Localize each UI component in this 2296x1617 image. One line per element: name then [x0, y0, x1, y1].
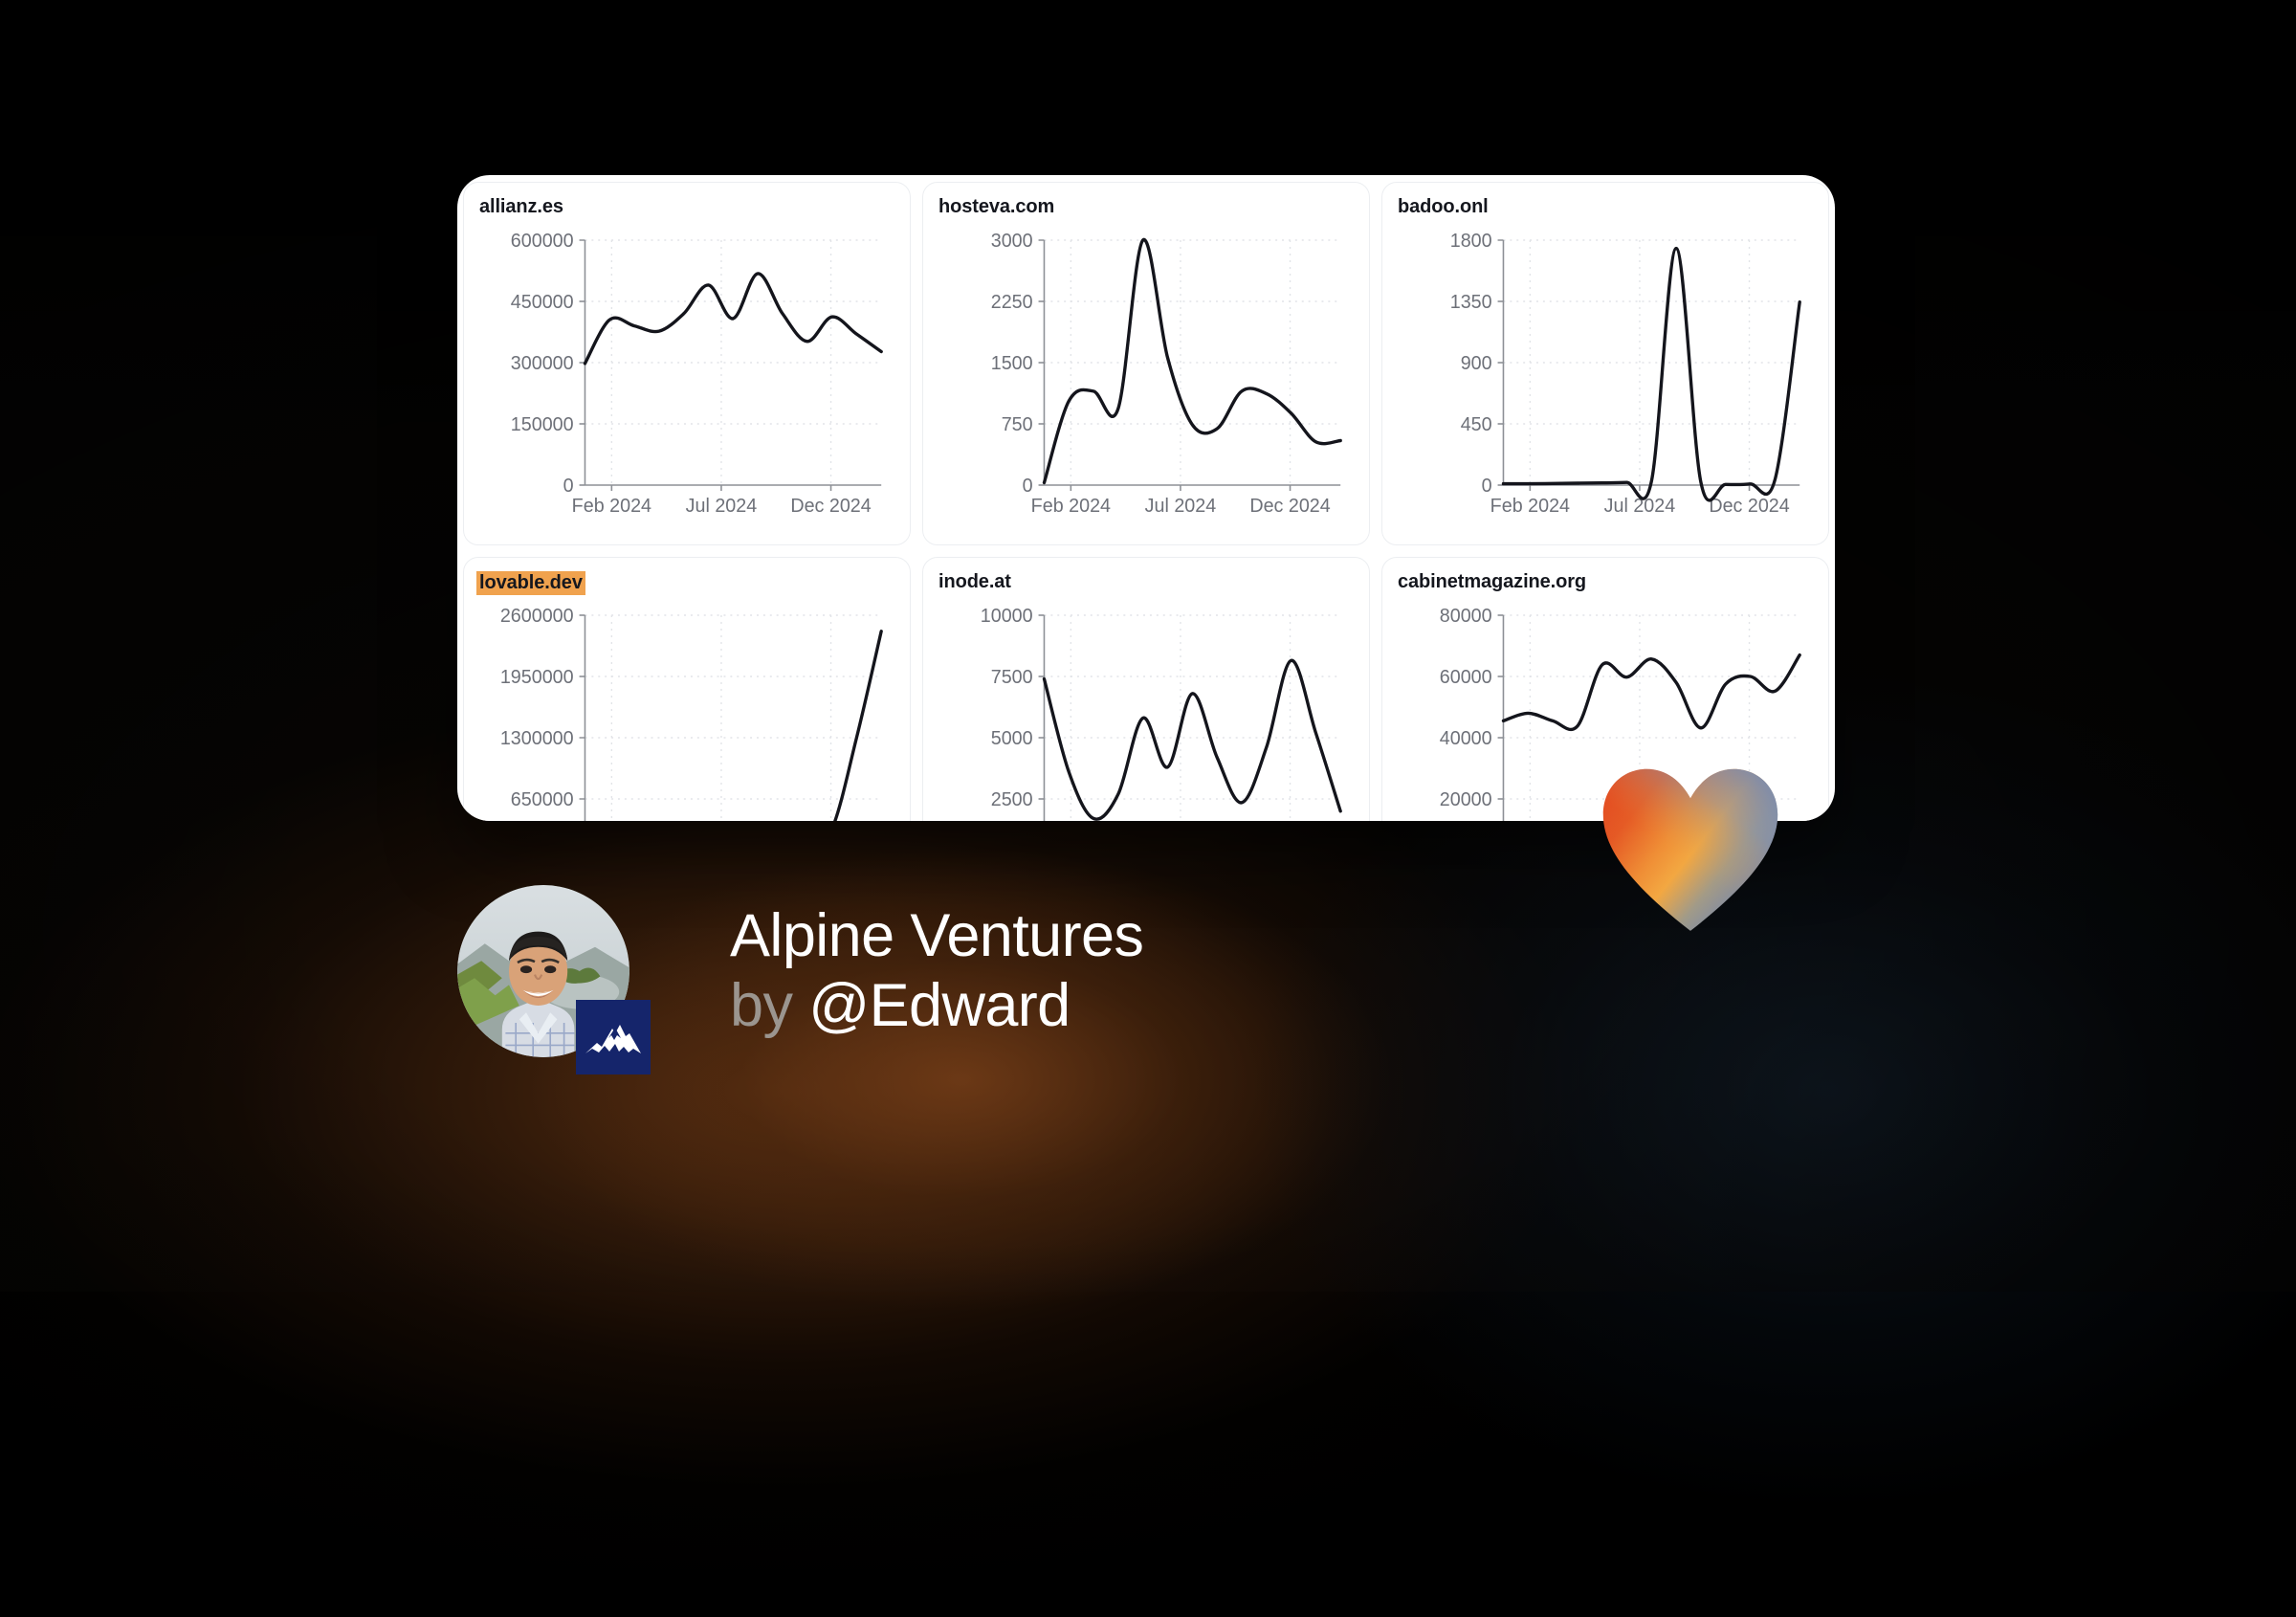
y-tick-label: 450000: [511, 292, 574, 313]
y-tick-label: 10000: [981, 606, 1033, 627]
chart-plot: 0750150022503000Feb 2024Jul 2024Dec 2024: [938, 233, 1354, 529]
chart-plot: 045090013501800Feb 2024Jul 2024Dec 2024: [1398, 233, 1813, 529]
brand-text-block: Alpine Ventures by @Edward: [730, 901, 1143, 1041]
x-tick-label: Feb 2024: [1490, 496, 1570, 517]
chart-title: inode.at: [938, 571, 1011, 593]
avatar-wrapper: [457, 885, 629, 1057]
chart-series-line: [1044, 239, 1340, 482]
y-tick-label: 0: [1023, 476, 1033, 497]
chart-title: badoo.onl: [1398, 196, 1489, 218]
y-tick-label: 7500: [991, 667, 1033, 688]
chart-card[interactable]: hosteva.com0750150022503000Feb 2024Jul 2…: [922, 182, 1370, 545]
y-tick-label: 1500: [991, 353, 1033, 374]
y-tick-label: 450: [1461, 414, 1492, 435]
x-tick-label: Jul 2024: [1604, 496, 1676, 517]
y-tick-label: 0: [1482, 476, 1492, 497]
chart-card[interactable]: allianz.es0150000300000450000600000Feb 2…: [463, 182, 911, 545]
x-tick-label: Feb 2024: [572, 496, 651, 517]
brand-handle: @Edward: [808, 972, 1070, 1039]
brand-title: Alpine Ventures: [730, 901, 1143, 971]
chart-series-line: [585, 631, 881, 821]
chart-series-line: [1503, 655, 1799, 730]
y-tick-label: 600000: [511, 231, 574, 252]
y-tick-label: 300000: [511, 353, 574, 374]
chart-title: cabinetmagazine.org: [1398, 571, 1586, 593]
chart-card[interactable]: inode.at25005000750010000Feb 2024Jul 202…: [922, 557, 1370, 821]
y-tick-label: 5000: [991, 728, 1033, 749]
y-tick-label: 750: [1002, 414, 1033, 435]
brand-by-label: by: [730, 972, 792, 1039]
charts-grid: allianz.es0150000300000450000600000Feb 2…: [457, 175, 1835, 821]
x-tick-label: Jul 2024: [686, 496, 758, 517]
y-tick-label: 900: [1461, 353, 1492, 374]
y-tick-label: 2600000: [500, 606, 574, 627]
y-tick-label: 1350: [1450, 292, 1492, 313]
y-tick-label: 40000: [1440, 728, 1492, 749]
chart-title: allianz.es: [479, 196, 563, 218]
y-tick-label: 0: [563, 476, 574, 497]
chart-series-line: [1044, 660, 1340, 819]
y-tick-label: 80000: [1440, 606, 1492, 627]
y-tick-label: 1300000: [500, 728, 574, 749]
x-tick-label: Dec 2024: [1249, 496, 1330, 517]
y-tick-label: 150000: [511, 414, 574, 435]
y-tick-label: 650000: [511, 789, 574, 810]
brand-attribution: by @Edward: [730, 971, 1143, 1041]
y-tick-label: 2500: [991, 789, 1033, 810]
mountain-icon: [576, 1000, 651, 1074]
y-tick-label: 2250: [991, 292, 1033, 313]
heart-icon: [1600, 765, 1781, 934]
x-tick-label: Jul 2024: [1145, 496, 1217, 517]
chart-plot: 0150000300000450000600000Feb 2024Jul 202…: [479, 233, 894, 529]
charts-panel: allianz.es0150000300000450000600000Feb 2…: [457, 175, 1835, 821]
y-tick-label: 3000: [991, 231, 1033, 252]
chart-plot: 650000130000019500002600000Feb 2024Jul 2…: [479, 608, 894, 821]
y-tick-label: 60000: [1440, 667, 1492, 688]
chart-title: lovable.dev: [476, 571, 585, 595]
x-tick-label: Feb 2024: [1031, 496, 1111, 517]
y-tick-label: 20000: [1440, 789, 1492, 810]
chart-plot: 25005000750010000Feb 2024Jul 2024Dec 202…: [938, 608, 1354, 821]
chart-series-line: [585, 274, 881, 364]
y-tick-label: 1950000: [500, 667, 574, 688]
x-tick-label: Dec 2024: [1709, 496, 1789, 517]
chart-title: hosteva.com: [938, 196, 1054, 218]
y-tick-label: 1800: [1450, 231, 1492, 252]
chart-card[interactable]: lovable.dev650000130000019500002600000Fe…: [463, 557, 911, 821]
x-tick-label: Dec 2024: [790, 496, 871, 517]
chart-series-line: [1503, 249, 1799, 500]
chart-card[interactable]: badoo.onl045090013501800Feb 2024Jul 2024…: [1381, 182, 1829, 545]
brand-footer: Alpine Ventures by @Edward: [457, 885, 1143, 1057]
